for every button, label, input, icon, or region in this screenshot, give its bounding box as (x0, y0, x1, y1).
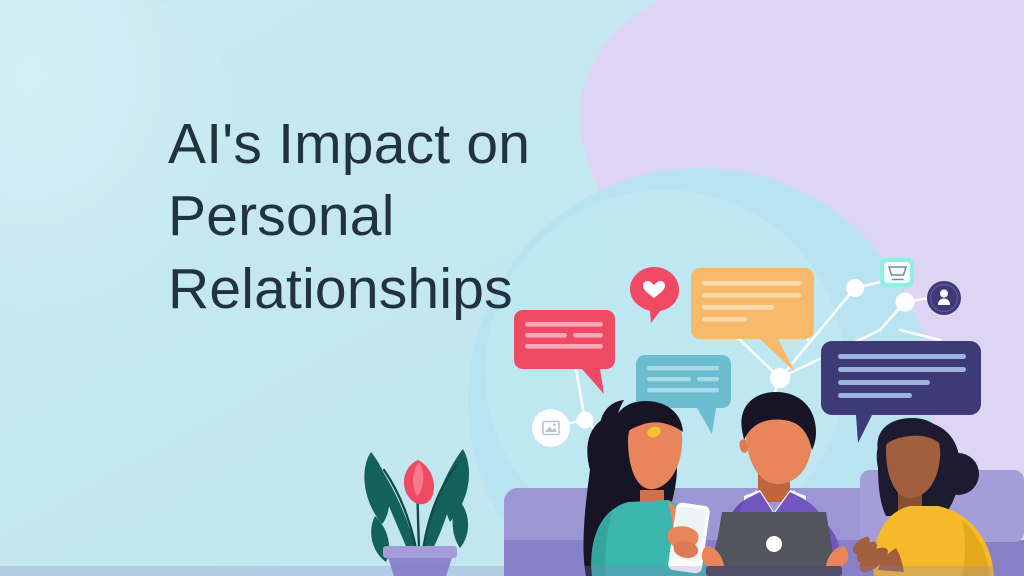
bottom-shadow (0, 566, 1024, 576)
yellow-hair-bun (937, 453, 979, 495)
presentation-slide: AI's Impact on Personal Relationships (0, 0, 1024, 576)
page-title: AI's Impact on Personal Relationships (168, 108, 598, 325)
network-node (770, 368, 790, 388)
cart-badge (880, 258, 914, 287)
network-node (577, 412, 594, 429)
person-badge-bg (927, 281, 961, 315)
network-node (896, 293, 915, 312)
teal-bubble-lines (647, 366, 719, 392)
image-badge-bg (532, 409, 570, 447)
title-block: AI's Impact on Personal Relationships (168, 108, 598, 325)
image-badge (532, 409, 570, 447)
pink-bubble-lines (525, 322, 603, 349)
network-node (846, 279, 864, 297)
plant-pot-rim (383, 546, 457, 558)
laptop-logo (766, 536, 782, 552)
person-badge (927, 281, 961, 315)
